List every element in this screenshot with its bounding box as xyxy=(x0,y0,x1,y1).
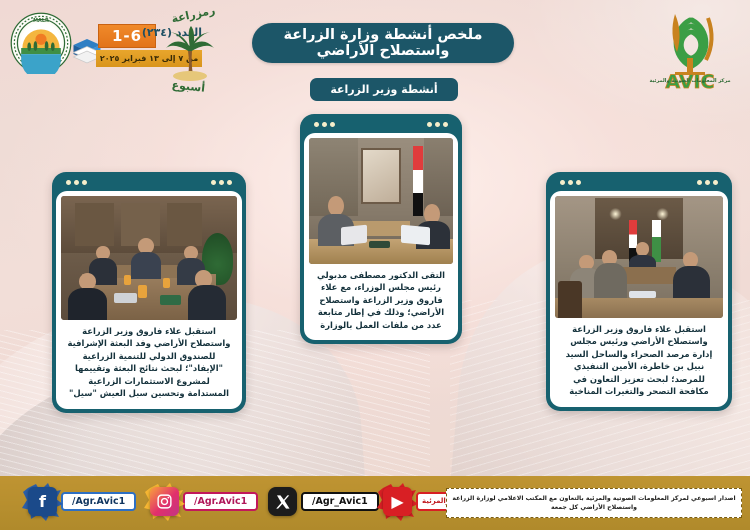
social-instagram[interactable]: /Agr.Avic1 xyxy=(150,487,258,516)
page-header: MALR 1-6 العدد (٢٣٤) من ٧ إلى ١٣ فبراير … xyxy=(0,0,750,108)
card-titlebar xyxy=(304,118,458,133)
titlebar-dots-left xyxy=(314,122,335,127)
instagram-handle[interactable]: /Agr.Avic1 xyxy=(183,492,258,511)
svg-text:رمزراعة: رمزراعة xyxy=(170,6,216,26)
news-card[interactable]: التقى الدكتور مصطفى مدبولي رئيس مجلس الو… xyxy=(300,114,462,344)
youtube-icon[interactable]: ▶ xyxy=(383,487,412,516)
ministry-emblem-icon: MALR xyxy=(10,12,72,74)
section-subtitle: أنشطة وزير الزراعة xyxy=(310,78,458,101)
page-footer: f /Agr.Avic1 /Agr.Avic1 xyxy=(0,476,750,530)
titlebar-dots-right xyxy=(211,180,232,185)
card-titlebar xyxy=(550,176,728,191)
newsletter-page: MALR 1-6 العدد (٢٣٤) من ٧ إلى ١٣ فبراير … xyxy=(0,0,750,530)
titlebar-dots-right xyxy=(427,122,448,127)
x-twitter-handle[interactable]: /Agr_Avic1 xyxy=(301,492,379,511)
facebook-handle[interactable]: /Agr.Avic1 xyxy=(61,492,136,511)
titlebar-dots-left xyxy=(66,180,87,185)
titlebar-dots-right xyxy=(697,180,718,185)
footer-note: اصدار اسبوعي لمركز المعلومات الصوتية وال… xyxy=(446,488,742,518)
news-caption: استقبل علاء فاروق وزير الزراعة واستصلاح … xyxy=(61,320,237,403)
page-title: ملخص أنشطة وزارة الزراعة واستصلاح الأراض… xyxy=(252,23,514,63)
avic-caption: مركز المعلومات الصوتية والمرئية xyxy=(638,78,742,84)
social-x[interactable]: /Agr_Avic1 xyxy=(268,487,379,516)
news-photo xyxy=(555,196,723,318)
x-twitter-icon[interactable] xyxy=(268,487,297,516)
news-card[interactable]: استقبل علاء فاروق وزير الزراعة واستصلاح … xyxy=(546,172,732,411)
instagram-icon[interactable] xyxy=(150,487,179,516)
facebook-icon[interactable]: f xyxy=(28,487,57,516)
palm-tree-logo-icon: رمزراعة أسبوع xyxy=(150,6,230,94)
news-photo xyxy=(309,138,453,264)
news-card[interactable]: استقبل علاء فاروق وزير الزراعة واستصلاح … xyxy=(52,172,246,413)
news-photo xyxy=(61,196,237,320)
news-caption: التقى الدكتور مصطفى مدبولي رئيس مجلس الو… xyxy=(309,264,453,334)
news-caption: استقبل علاء فاروق وزير الزراعة واستصلاح … xyxy=(555,318,723,401)
titlebar-dots-left xyxy=(560,180,581,185)
social-facebook[interactable]: f /Agr.Avic1 xyxy=(28,487,136,516)
svg-text:MALR: MALR xyxy=(33,18,49,24)
card-titlebar xyxy=(56,176,242,191)
